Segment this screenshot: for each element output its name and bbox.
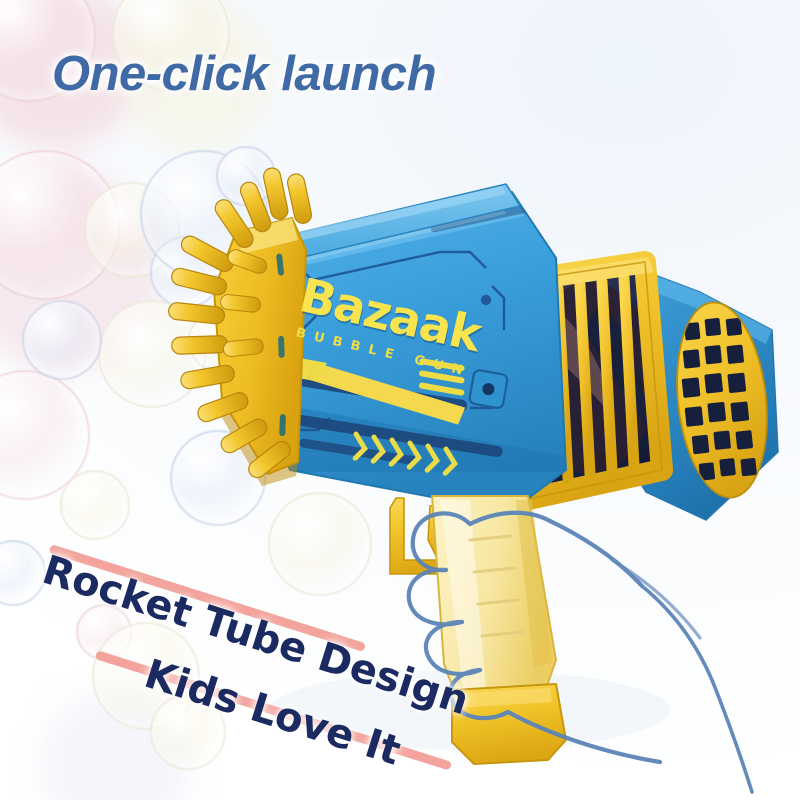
nozzle (286, 172, 313, 224)
mode-button (469, 369, 508, 408)
product-image-canvas: One-click launch (0, 0, 800, 800)
nozzle (170, 267, 228, 297)
slogan-block: Rocket Tube Design Kids Love It (18, 500, 488, 790)
nozzle (171, 335, 228, 354)
